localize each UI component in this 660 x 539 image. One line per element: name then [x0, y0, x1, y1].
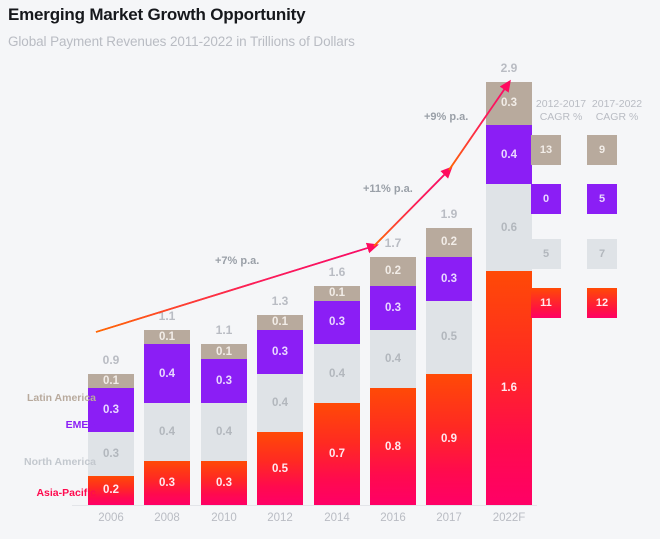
bar-segment-emea[interactable]: 0.4: [144, 344, 190, 402]
bar-segment-la[interactable]: 0.1: [257, 315, 303, 330]
bar-total-label: 1.1: [144, 309, 190, 323]
cagr-badge-emea[interactable]: 5: [587, 184, 617, 214]
bar-total-label: 1.6: [314, 265, 360, 279]
x-axis-label: 2016: [363, 512, 423, 524]
bar-segment-ap[interactable]: 0.8: [370, 388, 416, 505]
cagr-badge-na[interactable]: 7: [587, 239, 617, 269]
trend-annotation: +9% p.a.: [424, 111, 468, 123]
bar-segment-na[interactable]: 0.4: [201, 403, 247, 461]
bar-segment-emea[interactable]: 0.3: [257, 330, 303, 374]
cagr-badge-na[interactable]: 5: [531, 239, 561, 269]
plot-area: // 0.20.30.30.10.920060.30.40.40.11.1200…: [0, 0, 660, 539]
legend-label-na: North America: [0, 456, 96, 468]
cagr-badge-ap[interactable]: 12: [587, 288, 617, 318]
cagr-badge-la[interactable]: 9: [587, 135, 617, 165]
bar-segment-la[interactable]: 0.1: [314, 286, 360, 301]
chart-container: Emerging Market Growth Opportunity Globa…: [0, 0, 660, 539]
cagr-badge-la[interactable]: 13: [531, 135, 561, 165]
bar-segment-na[interactable]: 0.4: [144, 403, 190, 461]
bar-segment-na[interactable]: 0.4: [314, 344, 360, 402]
trend-annotation: +7% p.a.: [215, 255, 259, 267]
bar-segment-na[interactable]: 0.5: [426, 301, 472, 374]
bar-segment-na[interactable]: 0.6: [486, 184, 532, 272]
bar-segment-ap[interactable]: 0.5: [257, 432, 303, 505]
bar-segment-la[interactable]: 0.1: [144, 330, 190, 345]
bar-segment-emea[interactable]: 0.3: [370, 286, 416, 330]
bar-segment-na[interactable]: 0.3: [88, 432, 134, 476]
bar-segment-ap[interactable]: 0.3: [201, 461, 247, 505]
bar-total-label: 2.9: [486, 61, 532, 75]
cagr-badge-emea[interactable]: 0: [531, 184, 561, 214]
bar-segment-na[interactable]: 0.4: [257, 374, 303, 432]
bar-segment-ap[interactable]: 1.6: [486, 271, 532, 505]
bar-segment-emea[interactable]: 0.3: [201, 359, 247, 403]
x-axis-label: 2022F: [479, 512, 539, 524]
bar-segment-emea[interactable]: 0.3: [426, 257, 472, 301]
x-axis-label: 2006: [81, 512, 141, 524]
x-axis-label: 2008: [137, 512, 197, 524]
bar-segment-emea[interactable]: 0.3: [314, 301, 360, 345]
bar-total-label: 0.9: [88, 353, 134, 367]
bar-segment-emea[interactable]: 0.4: [486, 125, 532, 183]
bar-segment-la[interactable]: 0.1: [88, 374, 134, 389]
bar-segment-la[interactable]: 0.1: [201, 344, 247, 359]
trend-annotation: +11% p.a.: [363, 183, 413, 195]
legend-label-la: Latin America: [0, 392, 96, 404]
cagr-badge-ap[interactable]: 11: [531, 288, 561, 318]
bar-total-label: 1.7: [370, 236, 416, 250]
bar-segment-la[interactable]: 0.2: [426, 228, 472, 257]
cagr-header-unit: CAGR %: [582, 111, 652, 124]
bar-segment-na[interactable]: 0.4: [370, 330, 416, 388]
bar-total-label: 1.3: [257, 294, 303, 308]
bar-segment-ap[interactable]: 0.9: [426, 374, 472, 505]
legend-label-ap: Asia-Pacific: [0, 487, 96, 499]
bar-segment-ap[interactable]: 0.7: [314, 403, 360, 505]
x-axis-label: 2012: [250, 512, 310, 524]
bar-segment-la[interactable]: 0.2: [370, 257, 416, 286]
x-axis-label: 2017: [419, 512, 479, 524]
legend-label-emea: EMEA: [0, 419, 96, 431]
x-axis-label: 2010: [194, 512, 254, 524]
bar-segment-ap[interactable]: 0.3: [144, 461, 190, 505]
bar-total-label: 1.1: [201, 323, 247, 337]
bar-total-label: 1.9: [426, 207, 472, 221]
x-axis-label: 2014: [307, 512, 367, 524]
cagr-header-period: 2017-2022: [582, 98, 652, 111]
cagr-column-header: 2017-2022CAGR %: [582, 98, 652, 124]
